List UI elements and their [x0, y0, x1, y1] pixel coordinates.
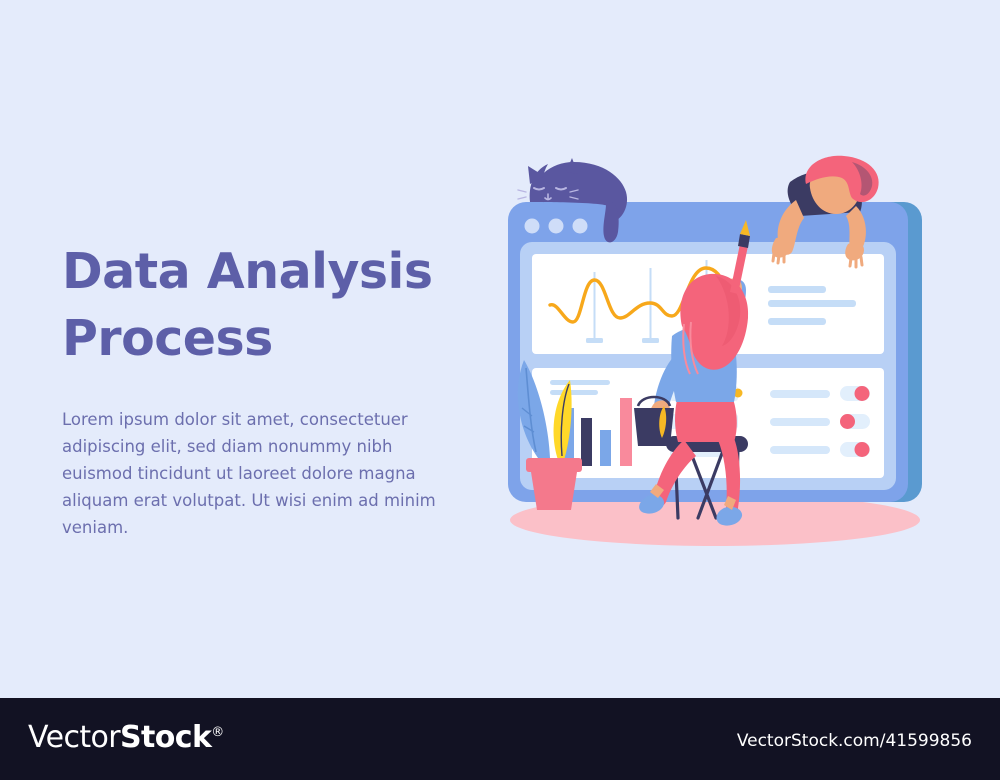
- document-line-2: [768, 300, 856, 307]
- plant-pot-body: [531, 472, 577, 510]
- toggle-knob-2[interactable]: [840, 414, 855, 429]
- document-line-1: [768, 286, 826, 293]
- panel-heading-line-2: [550, 390, 598, 395]
- logo-text-thin: Vector: [28, 720, 120, 755]
- window-dot-close-icon[interactable]: [525, 219, 540, 234]
- hero-body-text: Lorem ipsum dolor sit amet, consectetuer…: [62, 372, 462, 541]
- page-title-line-1: Data Analysis: [62, 243, 433, 300]
- hero-text-block: Data Analysis Process Lorem ipsum dolor …: [62, 238, 472, 541]
- poster-root: Data Analysis Process Lorem ipsum dolor …: [0, 0, 1000, 780]
- logo-text-bold: Stock: [120, 720, 211, 755]
- toggle-knob-1[interactable]: [855, 386, 870, 401]
- registered-trademark-icon: ®: [211, 725, 223, 740]
- window-dot-minimize-icon[interactable]: [549, 219, 564, 234]
- bar-3: [600, 430, 611, 466]
- poster-canvas: Data Analysis Process Lorem ipsum dolor …: [0, 0, 1000, 698]
- plant-pot-rim: [526, 458, 582, 472]
- bar-4: [620, 398, 632, 466]
- panel-heading-line-1: [550, 380, 610, 385]
- toggle-knob-3[interactable]: [855, 442, 870, 457]
- page-title: Data Analysis Process: [62, 238, 472, 372]
- data-analysis-illustration: [470, 140, 970, 560]
- vectorstock-logo: VectorStock®: [28, 720, 224, 755]
- page-title-line-2: Process: [62, 310, 273, 367]
- watermark-footer: VectorStock® VectorStock.com/41599856: [0, 698, 1000, 780]
- window-dot-maximize-icon[interactable]: [573, 219, 588, 234]
- bar-2: [581, 418, 592, 466]
- document-line-3: [768, 318, 826, 325]
- illustration-container: [470, 140, 970, 560]
- footer-url: VectorStock.com/41599856: [737, 731, 972, 751]
